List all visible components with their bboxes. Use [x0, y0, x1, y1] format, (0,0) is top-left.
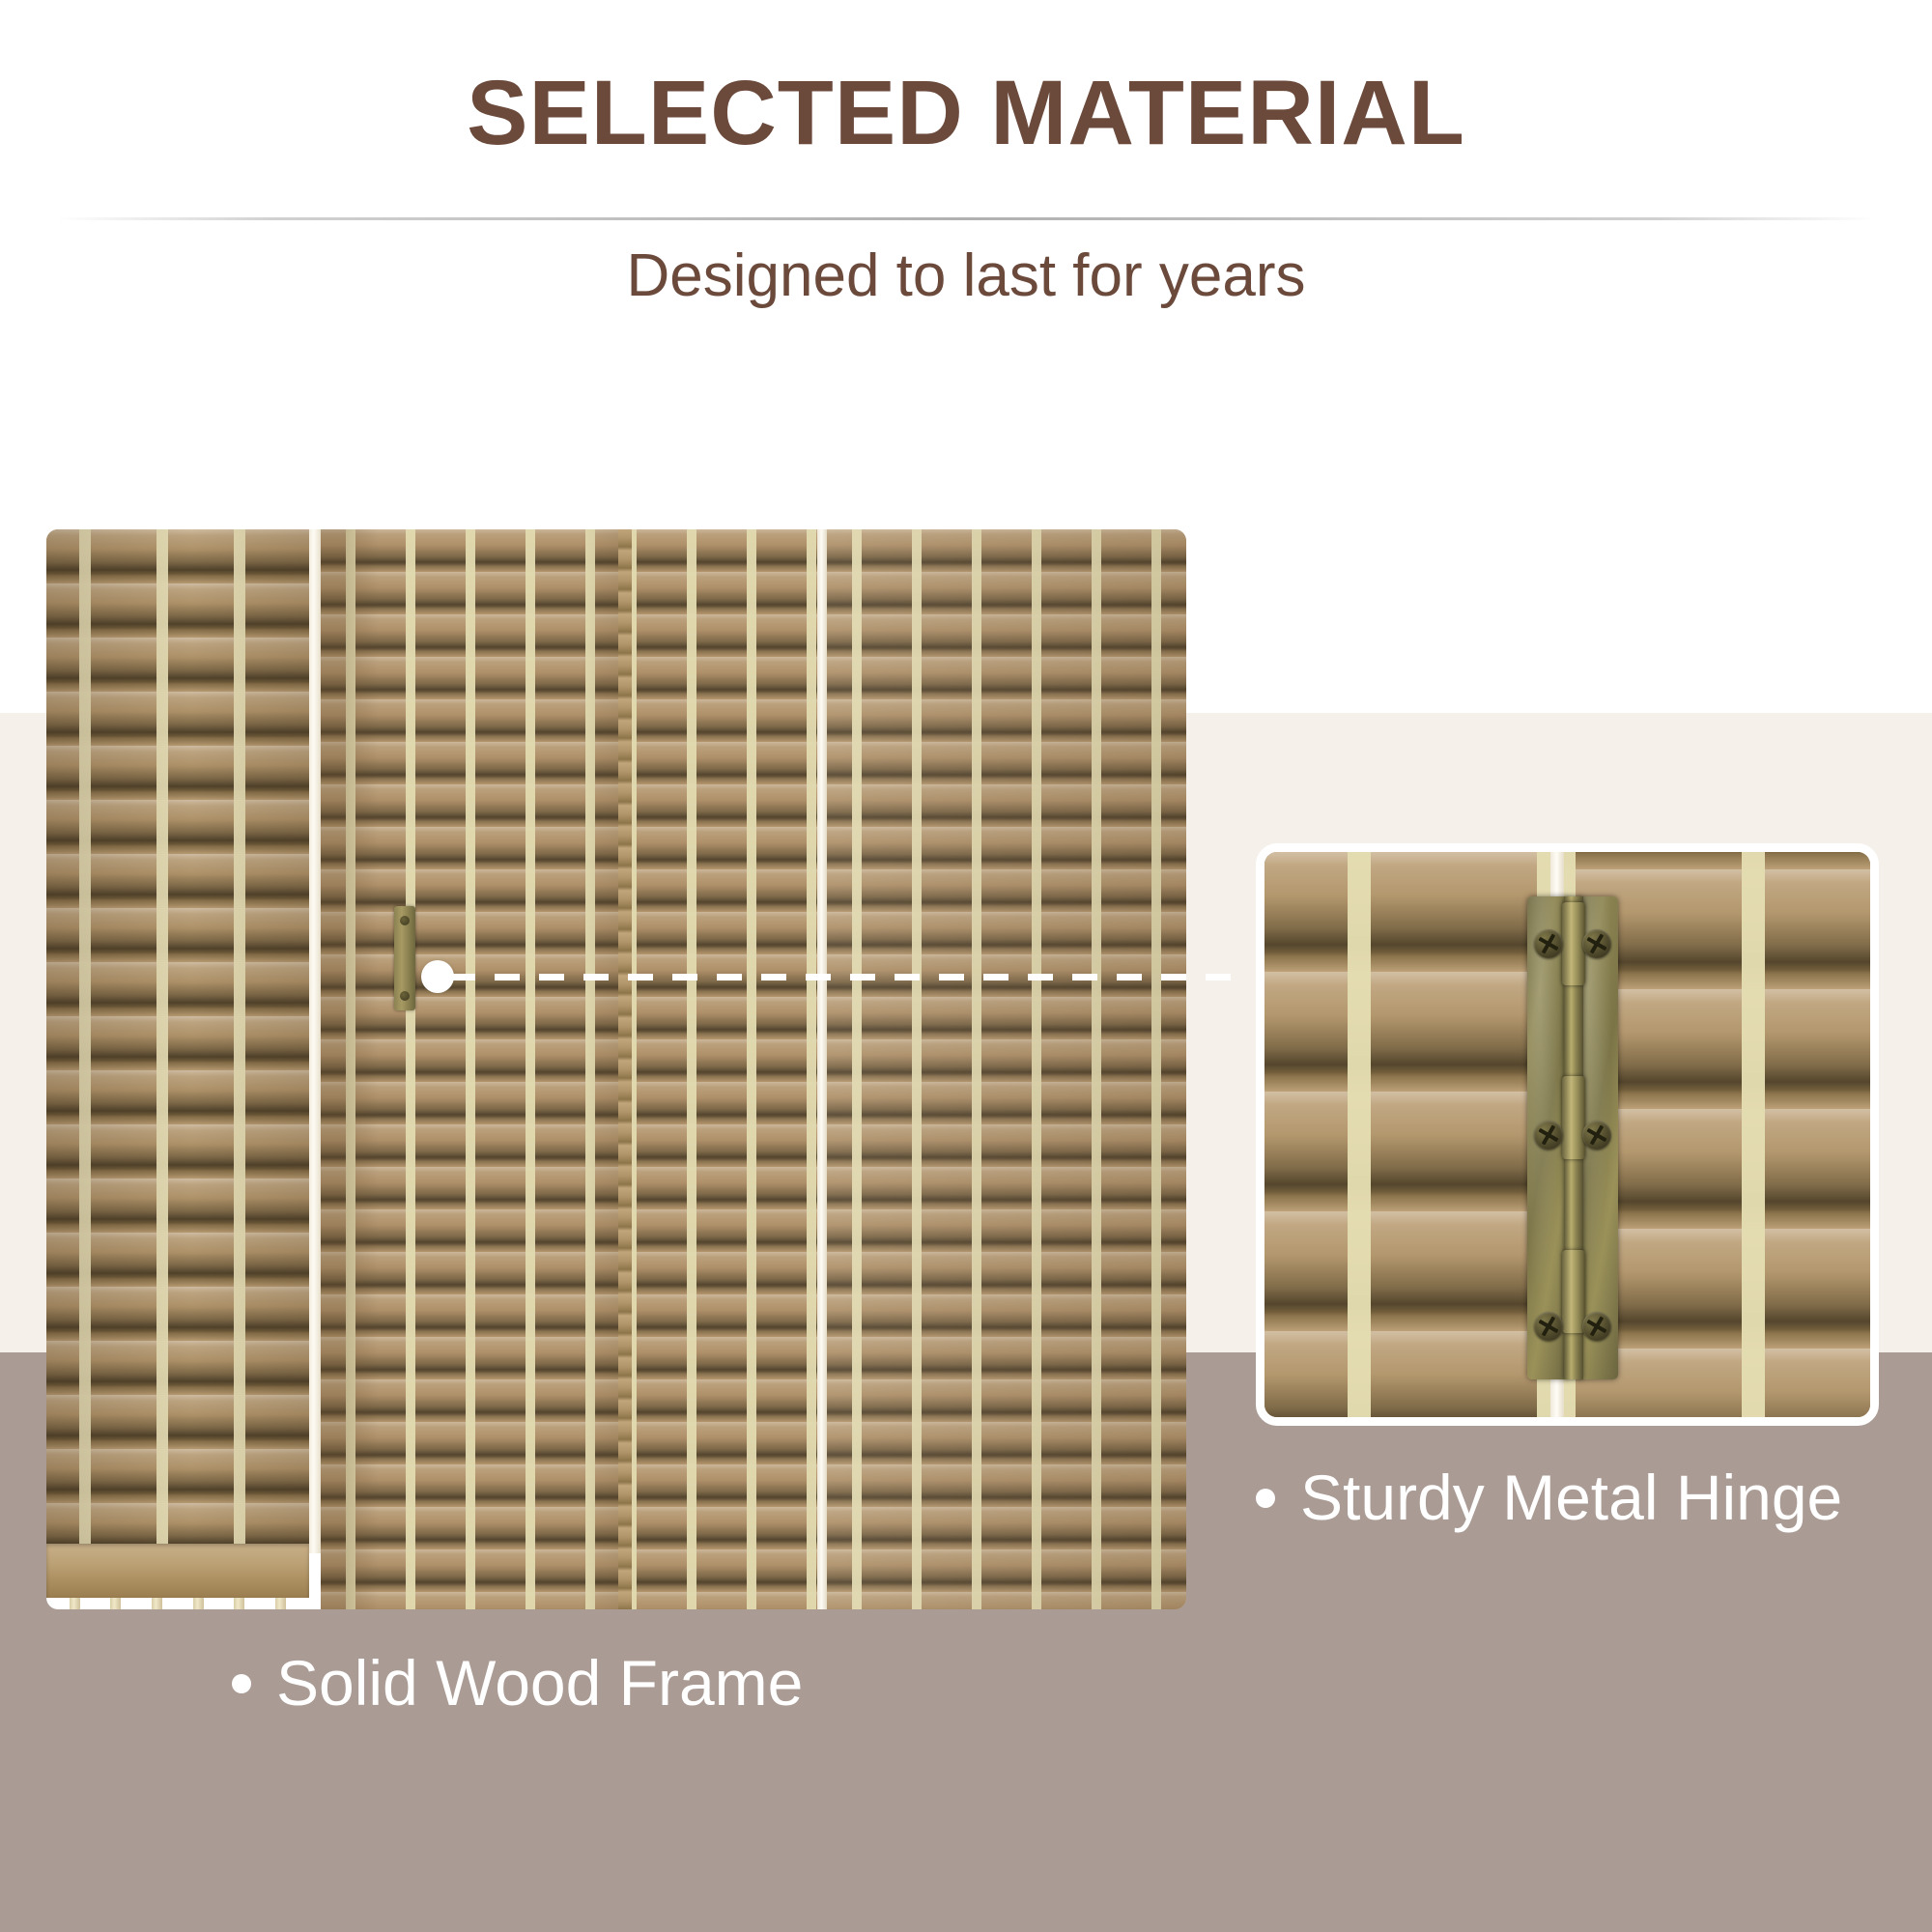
- rattan-weave-texture: [618, 529, 632, 1609]
- header-divider: [58, 217, 1874, 220]
- hinge-screw: [1582, 1121, 1611, 1150]
- frame-leg: [70, 1598, 80, 1609]
- hinge-knuckle: [1562, 1250, 1585, 1333]
- rattan-weave-texture: [1264, 852, 1550, 1417]
- divider-panel-right: [827, 529, 1186, 1609]
- feature-caption-frame-label: Solid Wood Frame: [276, 1650, 803, 1717]
- feature-caption-hinge-label: Sturdy Metal Hinge: [1300, 1464, 1842, 1531]
- feature-caption-hinge: Sturdy Metal Hinge: [1256, 1464, 1842, 1531]
- bullet-dot-icon: [1256, 1489, 1275, 1508]
- hinge-icon: [1527, 896, 1618, 1379]
- product-feature-banner: SELECTED MATERIAL Designed to last for y…: [0, 0, 1932, 1932]
- callout-dashed-line: [450, 974, 1246, 980]
- frame-leg: [110, 1598, 121, 1609]
- main-product-photo: [46, 529, 1186, 1609]
- panel-shading: [46, 529, 309, 1544]
- panel-seam-2: [817, 529, 827, 1609]
- hinge-screw: [1534, 1121, 1563, 1150]
- feature-caption-frame: Solid Wood Frame: [232, 1650, 803, 1717]
- divider-panel-right-inner: [632, 529, 821, 1609]
- callout-dot-icon: [421, 960, 454, 993]
- hinge-screw: [1582, 1312, 1611, 1341]
- wood-frame-rail-left: [46, 1544, 309, 1598]
- panel-frame-stile: [618, 529, 632, 1609]
- frame-leg: [152, 1598, 162, 1609]
- divider-panel-left: [46, 529, 309, 1544]
- page-subtitle: Designed to last for years: [0, 246, 1932, 306]
- hinge-closeup-card: [1256, 843, 1879, 1426]
- hinge-screw: [1582, 929, 1611, 958]
- frame-leg: [234, 1598, 244, 1609]
- hinge-screw: [1534, 1312, 1563, 1341]
- closeup-panel-left: [1264, 852, 1550, 1417]
- panel-shading: [827, 529, 1186, 1609]
- hinge-icon: [394, 906, 415, 1010]
- hinge-knuckle: [1562, 1076, 1585, 1159]
- page-title: SELECTED MATERIAL: [0, 68, 1932, 159]
- panel-shading: [321, 529, 626, 1609]
- divider-panel-center: [321, 529, 626, 1609]
- bullet-dot-icon: [232, 1674, 251, 1693]
- frame-leg: [275, 1598, 286, 1609]
- panel-seam-1: [309, 529, 321, 1553]
- rattan-weave-texture: [632, 529, 821, 1609]
- hinge-screw: [1534, 929, 1563, 958]
- wood-frame-legs-left: [54, 1598, 301, 1609]
- frame-leg: [193, 1598, 204, 1609]
